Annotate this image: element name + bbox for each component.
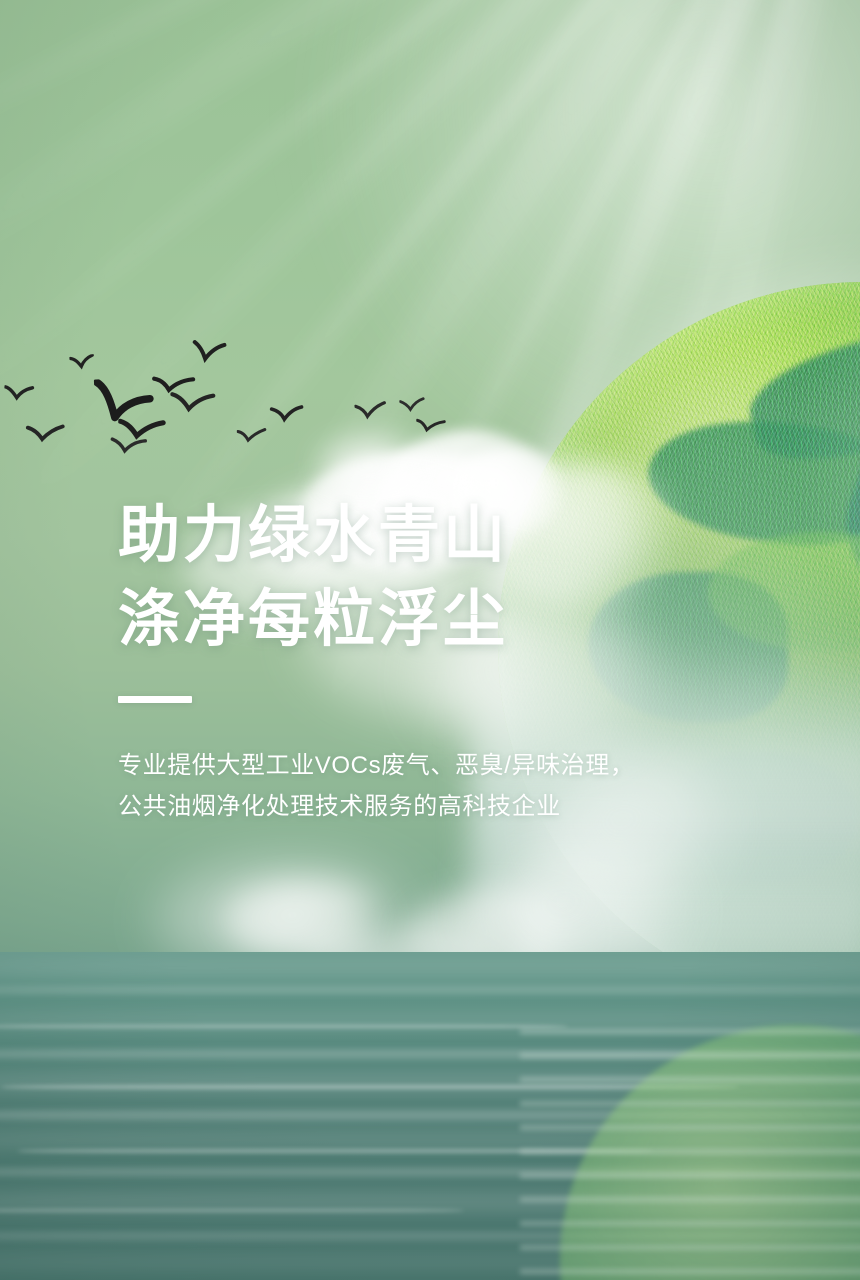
water-wave [0,986,860,994]
headline-line-1: 助力绿水青山 [118,494,738,578]
poster-text-block: 助力绿水青山 涤净每粒浮尘 专业提供大型工业VOCs废气、恶臭/异味治理， 公共… [118,494,738,827]
water-wave [17,1148,653,1154]
divider-rule [118,696,192,703]
headline-line-2: 涤净每粒浮尘 [118,578,738,662]
water-wave [0,1084,740,1090]
subtitle-line-2: 公共油烟净化处理技术服务的高科技企业 [118,786,738,827]
poster-canvas: 助力绿水青山 涤净每粒浮尘 专业提供大型工业VOCs废气、恶臭/异味治理， 公共… [0,0,860,1280]
subtitle-line-1: 专业提供大型工业VOCs废气、恶臭/异味治理， [118,745,738,786]
water-wave [0,960,860,976]
